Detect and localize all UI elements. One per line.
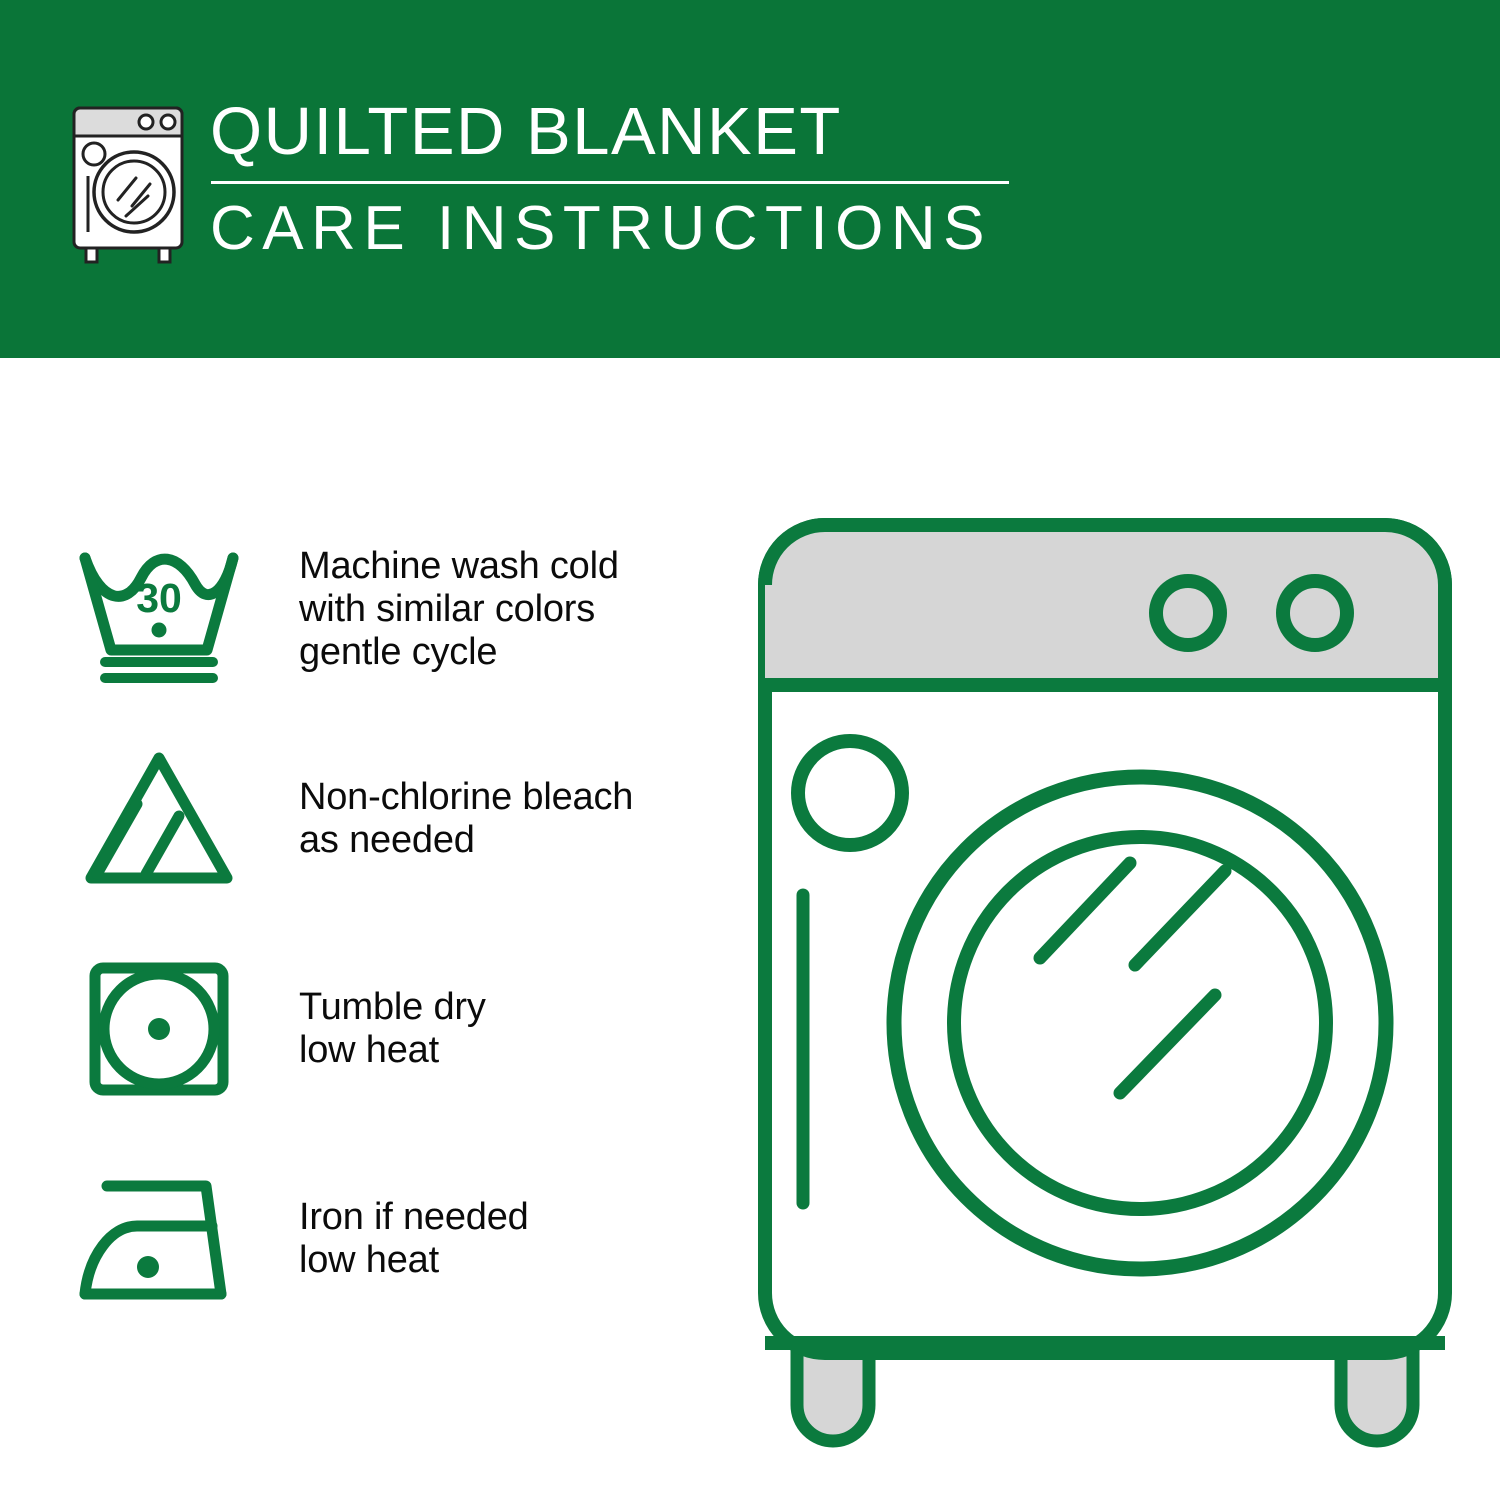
- front-load-washing-machine-illustration: [745, 503, 1465, 1463]
- tumble-dry-low-icon: [75, 954, 243, 1104]
- title-divider: [211, 181, 1009, 184]
- instruction-line: low heat: [299, 1029, 486, 1072]
- instruction-line: Tumble dry: [299, 986, 486, 1029]
- instruction-line: Non-chlorine bleach: [299, 776, 633, 819]
- page-header: QUILTED BLANKET CARE INSTRUCTIONS: [0, 0, 1500, 358]
- list-item: 30 Machine wash cold with similar colors…: [75, 523, 715, 695]
- title-block: QUILTED BLANKET CARE INSTRUCTIONS: [210, 96, 1009, 260]
- list-item: Iron if needed low heat: [75, 1153, 715, 1325]
- header-content: QUILTED BLANKET CARE INSTRUCTIONS: [62, 96, 1009, 266]
- list-item: Tumble dry low heat: [75, 943, 715, 1115]
- instruction-line: Machine wash cold: [299, 545, 619, 588]
- page-title: QUILTED BLANKET: [210, 98, 1009, 165]
- list-item-text: Non-chlorine bleach as needed: [299, 776, 633, 862]
- instruction-line: gentle cycle: [299, 631, 619, 674]
- machine-wash-30-gentle-icon: 30: [75, 534, 243, 684]
- list-item-text: Tumble dry low heat: [299, 986, 486, 1072]
- instruction-line: with similar colors: [299, 588, 619, 631]
- wash-temp-label: 30: [136, 575, 182, 621]
- non-chlorine-bleach-triangle-icon: [75, 744, 243, 894]
- list-item: Non-chlorine bleach as needed: [75, 733, 715, 905]
- instruction-line: Iron if needed: [299, 1196, 529, 1239]
- page-content: 30 Machine wash cold with similar colors…: [0, 358, 1500, 1500]
- instruction-line: low heat: [299, 1239, 529, 1282]
- instruction-line: as needed: [299, 819, 633, 862]
- iron-low-heat-icon: [75, 1164, 243, 1314]
- list-item-text: Iron if needed low heat: [299, 1196, 529, 1282]
- care-symbol-list: 30 Machine wash cold with similar colors…: [75, 523, 715, 1325]
- washing-machine-icon: [62, 96, 194, 266]
- list-item-text: Machine wash cold with similar colors ge…: [299, 545, 619, 674]
- page-subtitle: CARE INSTRUCTIONS: [210, 198, 1009, 260]
